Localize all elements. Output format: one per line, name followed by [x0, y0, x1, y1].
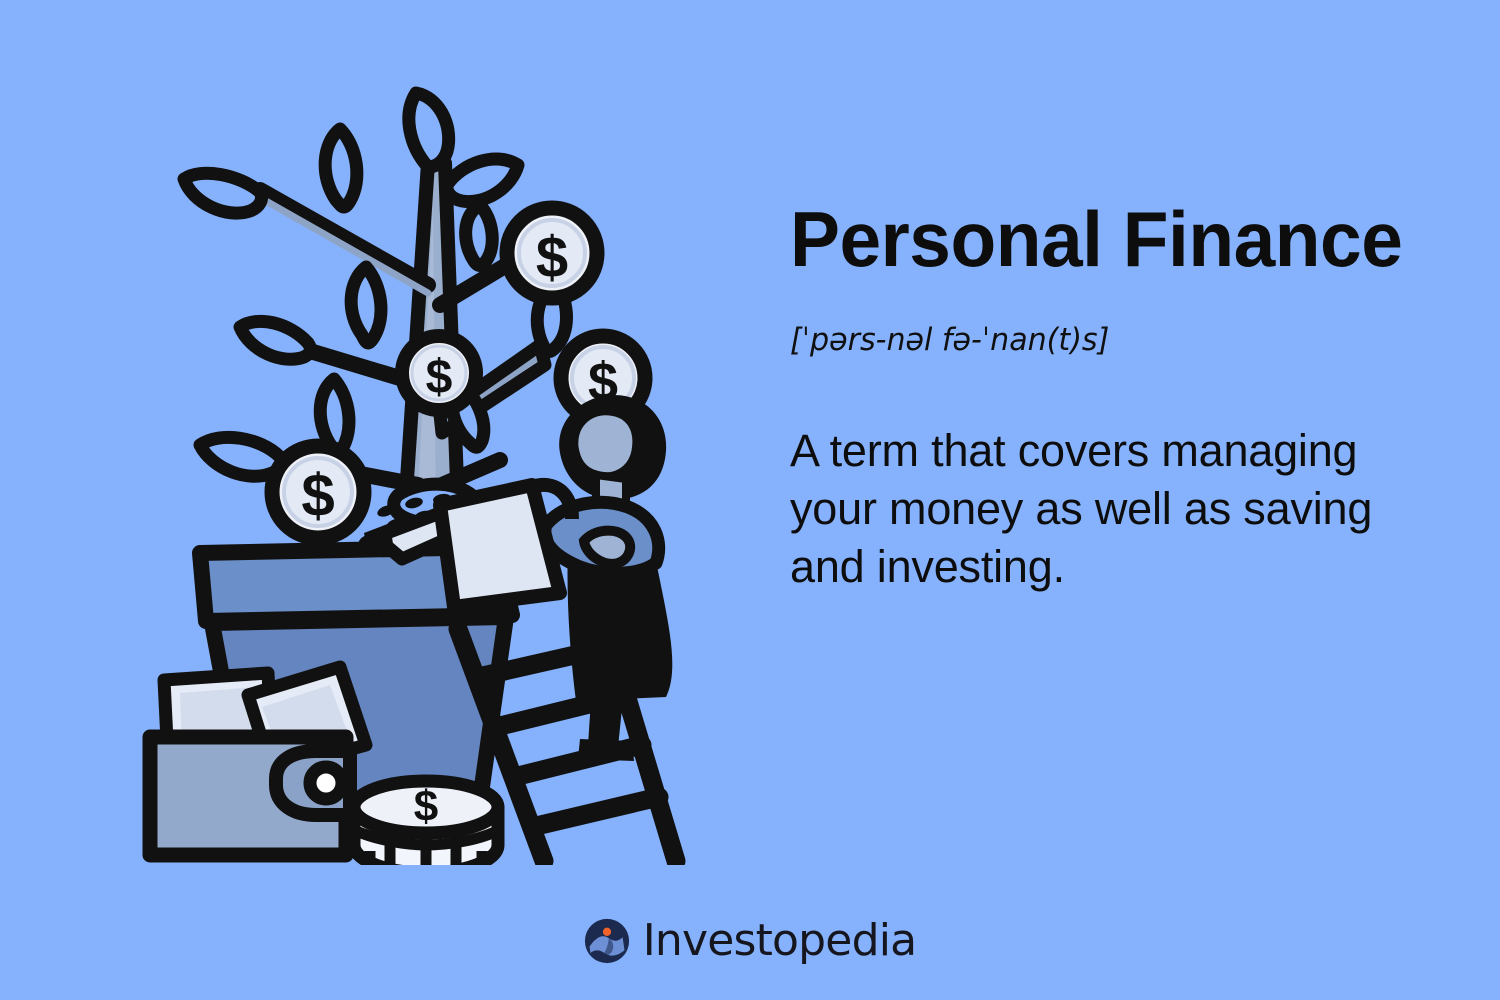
svg-text:$: $ [426, 351, 453, 404]
coin-stack: $ [354, 781, 498, 865]
term-text-block: Personal Finance [ˈpərs-nəl fə-ˈnan(t)s]… [790, 200, 1450, 596]
term-definition: A term that covers managing your money a… [790, 422, 1380, 596]
svg-text:$: $ [536, 225, 568, 290]
dollar-coin-leaf: $ [402, 336, 476, 410]
definition-card: .ol { stroke:#111111; stroke-linejoin:ro… [0, 0, 1500, 1000]
brand-wordmark: Investopedia [643, 919, 917, 963]
page-title: Personal Finance [790, 200, 1424, 280]
svg-text:$: $ [414, 782, 438, 831]
dollar-coin-leaf: $ [507, 208, 597, 298]
brand-logo: Investopedia [0, 918, 1500, 964]
money-tree-illustration: .ol { stroke:#111111; stroke-linejoin:ro… [140, 55, 710, 865]
wallet-with-bills [150, 667, 366, 855]
term-pronunciation: [ˈpərs-nəl fə-ˈnan(t)s] [790, 322, 1430, 358]
dollar-coin-leaf: $ [272, 446, 364, 538]
investopedia-logo-icon [584, 918, 630, 964]
svg-text:$: $ [301, 462, 334, 529]
